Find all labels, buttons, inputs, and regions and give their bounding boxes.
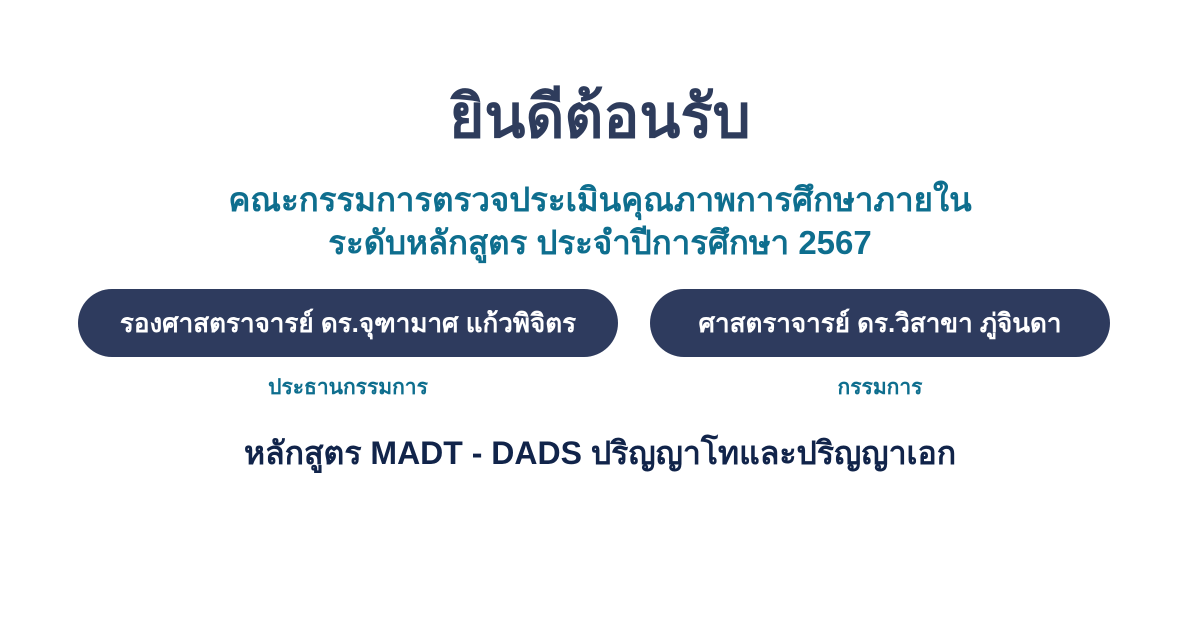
program-footer-line: หลักสูตร MADT - DADS ปริญญาโทและปริญญาเอ…	[0, 432, 1200, 474]
committee-role-member: กรรมการ	[650, 374, 1110, 402]
page-title: ยินดีต้อนรับ	[0, 82, 1200, 152]
subtitle-block: คณะกรรมการตรวจประเมินคุณภาพการศึกษาภายใน…	[0, 178, 1200, 264]
subtitle-line-2: ระดับหลักสูตร ประจำปีการศึกษา 2567	[0, 221, 1200, 264]
subtitle-line-1: คณะกรรมการตรวจประเมินคุณภาพการศึกษาภายใน	[0, 178, 1200, 221]
committee-role-chair: ประธานกรรมการ	[78, 374, 618, 402]
committee-member-pill-chair: รองศาสตราจารย์ ดร.จุฑามาศ แก้วพิจิตร	[78, 289, 618, 357]
welcome-poster: ยินดีต้อนรับ คณะกรรมการตรวจประเมินคุณภาพ…	[0, 0, 1200, 628]
committee-member-pill-member: ศาสตราจารย์ ดร.วิสาขา ภู่จินดา	[650, 289, 1110, 357]
committee-role-row: ประธานกรรมการ กรรมการ	[78, 374, 1110, 404]
committee-member-name: รองศาสตราจารย์ ดร.จุฑามาศ แก้วพิจิตร	[120, 308, 576, 338]
committee-member-name: ศาสตราจารย์ ดร.วิสาขา ภู่จินดา	[698, 308, 1061, 338]
committee-name-row: รองศาสตราจารย์ ดร.จุฑามาศ แก้วพิจิตร ศาส…	[78, 289, 1110, 357]
